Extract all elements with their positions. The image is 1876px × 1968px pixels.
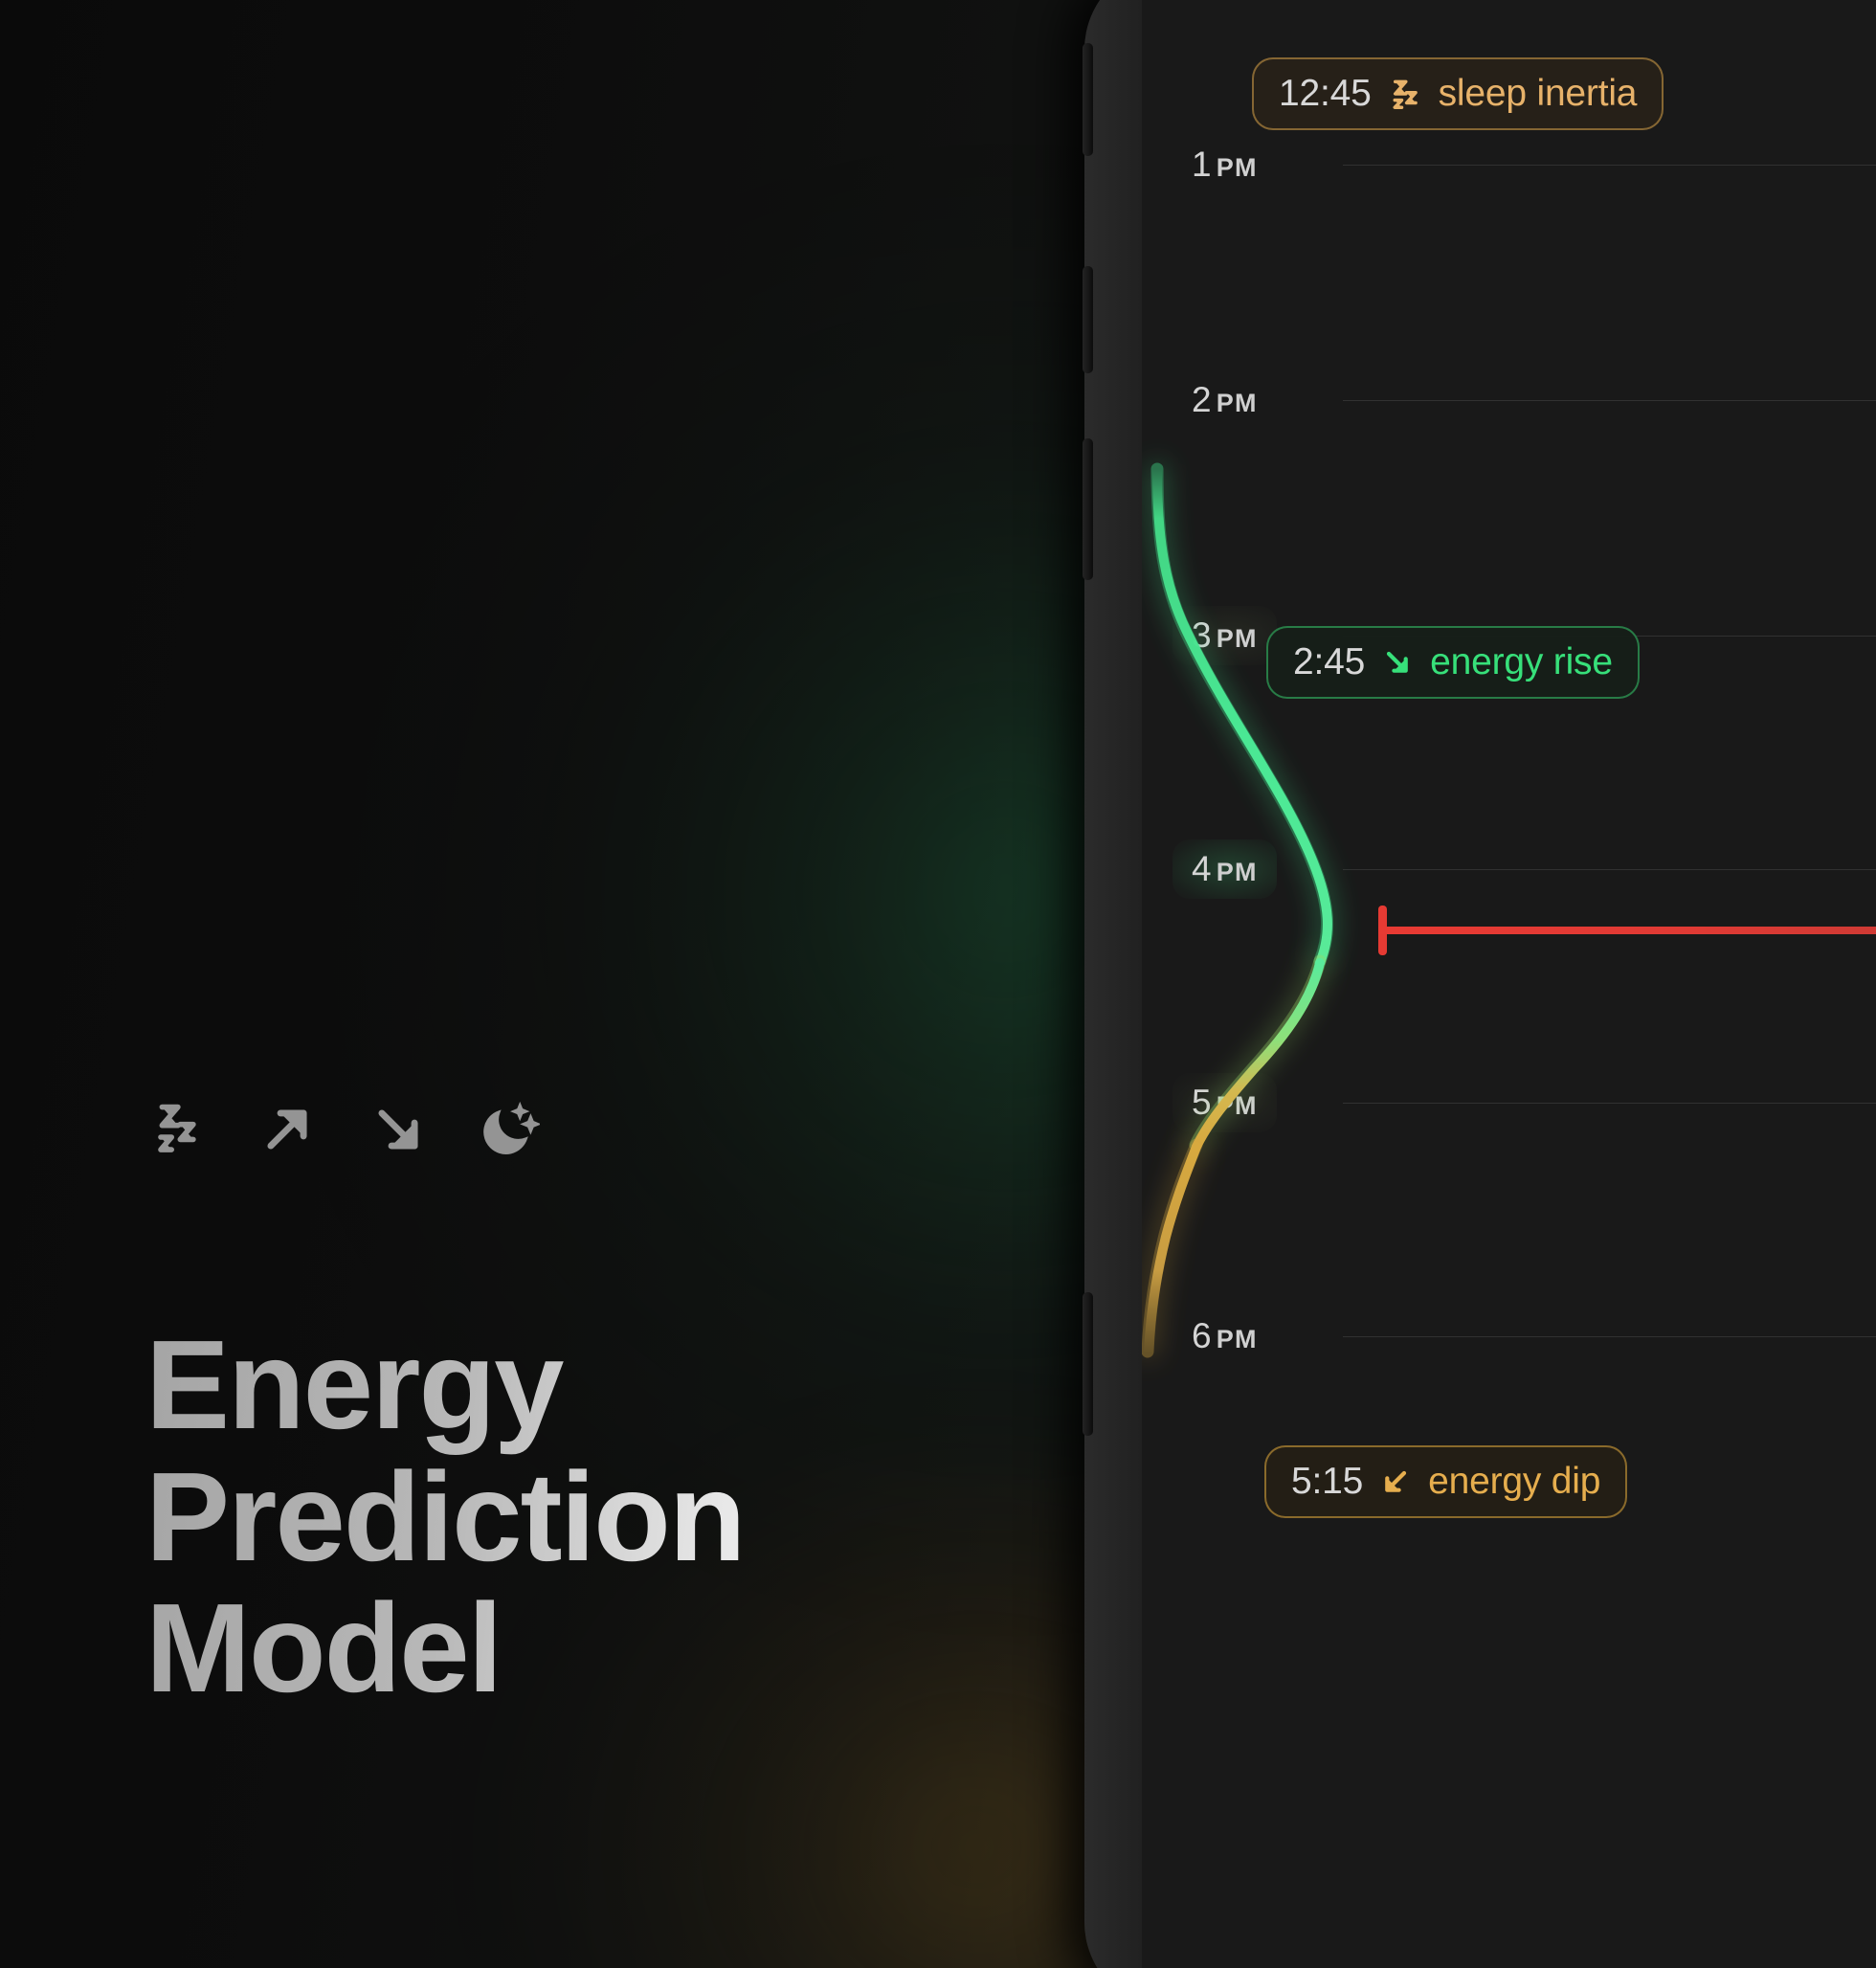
- page-title: Energy Prediction Model: [145, 1319, 873, 1713]
- event-time: 2:45: [1293, 641, 1365, 683]
- event-label: energy rise: [1430, 641, 1613, 683]
- curve-glow-rise: [1157, 469, 1328, 961]
- event-chip-sleep-inertia[interactable]: 12:45 sleep inertia: [1252, 57, 1664, 130]
- phone-volume-up-button[interactable]: [1083, 266, 1093, 373]
- sleep-zzz-icon: [145, 1099, 207, 1160]
- title-line-2: Prediction: [145, 1451, 873, 1582]
- sleep-zzz-icon: [1387, 76, 1423, 112]
- event-time: 5:15: [1291, 1461, 1363, 1503]
- arrow-down-right-icon: [1380, 645, 1415, 680]
- curve-segment-energy-rise: [1157, 469, 1328, 963]
- title-line-3: Model: [145, 1582, 873, 1713]
- energy-prediction-curve: [1142, 0, 1876, 1968]
- poster-root: Energy Prediction Model 1PM 2PM: [0, 0, 1876, 1968]
- phone-device: 1PM 2PM 3PM: [1084, 0, 1876, 1968]
- arrow-down-left-icon: [1378, 1465, 1413, 1499]
- current-time-indicator: [1378, 927, 1876, 934]
- title-line-1: Energy: [145, 1319, 873, 1450]
- arrow-up-right-icon: [257, 1099, 318, 1160]
- event-chip-energy-rise[interactable]: 2:45 energy rise: [1266, 626, 1640, 699]
- event-chip-energy-dip[interactable]: 5:15 energy dip: [1264, 1445, 1627, 1518]
- feature-icon-row: [145, 1099, 540, 1160]
- phone-screen: 1PM 2PM 3PM: [1142, 0, 1876, 1968]
- event-label: energy dip: [1428, 1461, 1600, 1503]
- phone-side-button-1[interactable]: [1083, 43, 1093, 156]
- phone-volume-down-button[interactable]: [1083, 438, 1093, 580]
- phone-side-button-4[interactable]: [1083, 1292, 1093, 1436]
- moon-stars-icon: [479, 1099, 540, 1160]
- arrow-down-right-icon: [368, 1099, 429, 1160]
- event-time: 12:45: [1279, 73, 1372, 115]
- event-label: sleep inertia: [1439, 73, 1638, 115]
